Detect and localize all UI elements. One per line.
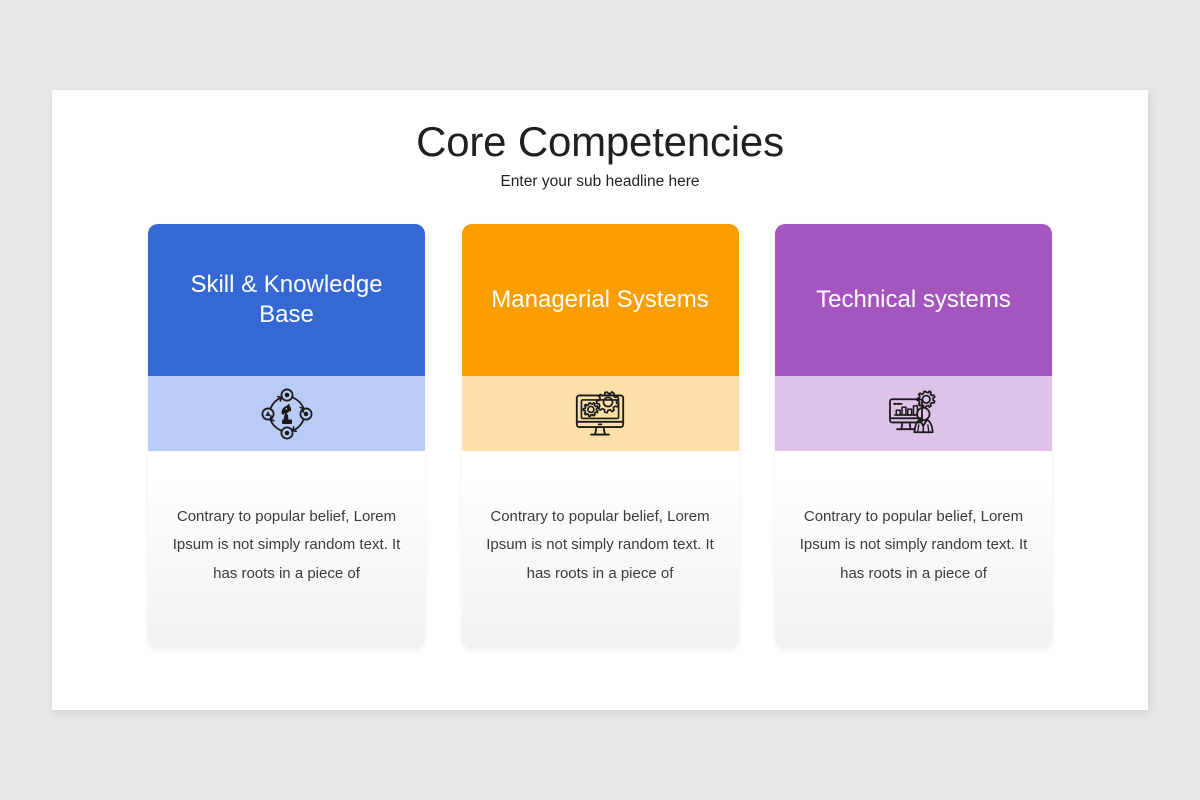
page-subtitle: Enter your sub headline here <box>52 173 1148 191</box>
competency-card[interactable]: Technical systems <box>775 224 1052 648</box>
card-row: Skill & Knowledge Base <box>148 224 1052 648</box>
card-icon-band <box>775 376 1052 451</box>
card-header: Skill & Knowledge Base <box>148 224 425 376</box>
competency-card[interactable]: Managerial Systems <box>462 224 739 648</box>
card-body: Contrary to popular belief, Lorem Ipsum … <box>148 451 425 648</box>
technician-monitor-gear-icon <box>887 387 941 441</box>
card-icon-band <box>462 376 739 451</box>
monitor-gears-icon <box>573 387 627 441</box>
card-body-text: Contrary to popular belief, Lorem Ipsum … <box>172 503 401 589</box>
card-header: Managerial Systems <box>462 224 739 376</box>
page-title: Core Competencies <box>52 118 1148 166</box>
card-icon-band <box>148 376 425 451</box>
card-body: Contrary to popular belief, Lorem Ipsum … <box>775 451 1052 648</box>
card-body-text: Contrary to popular belief, Lorem Ipsum … <box>799 503 1028 589</box>
competency-card[interactable]: Skill & Knowledge Base <box>148 224 425 648</box>
card-body: Contrary to popular belief, Lorem Ipsum … <box>462 451 739 648</box>
strategy-knight-cycle-icon <box>260 387 314 441</box>
slide-canvas: Core Competencies Enter your sub headlin… <box>52 90 1148 710</box>
card-header: Technical systems <box>775 224 1052 376</box>
card-body-text: Contrary to popular belief, Lorem Ipsum … <box>486 503 715 589</box>
